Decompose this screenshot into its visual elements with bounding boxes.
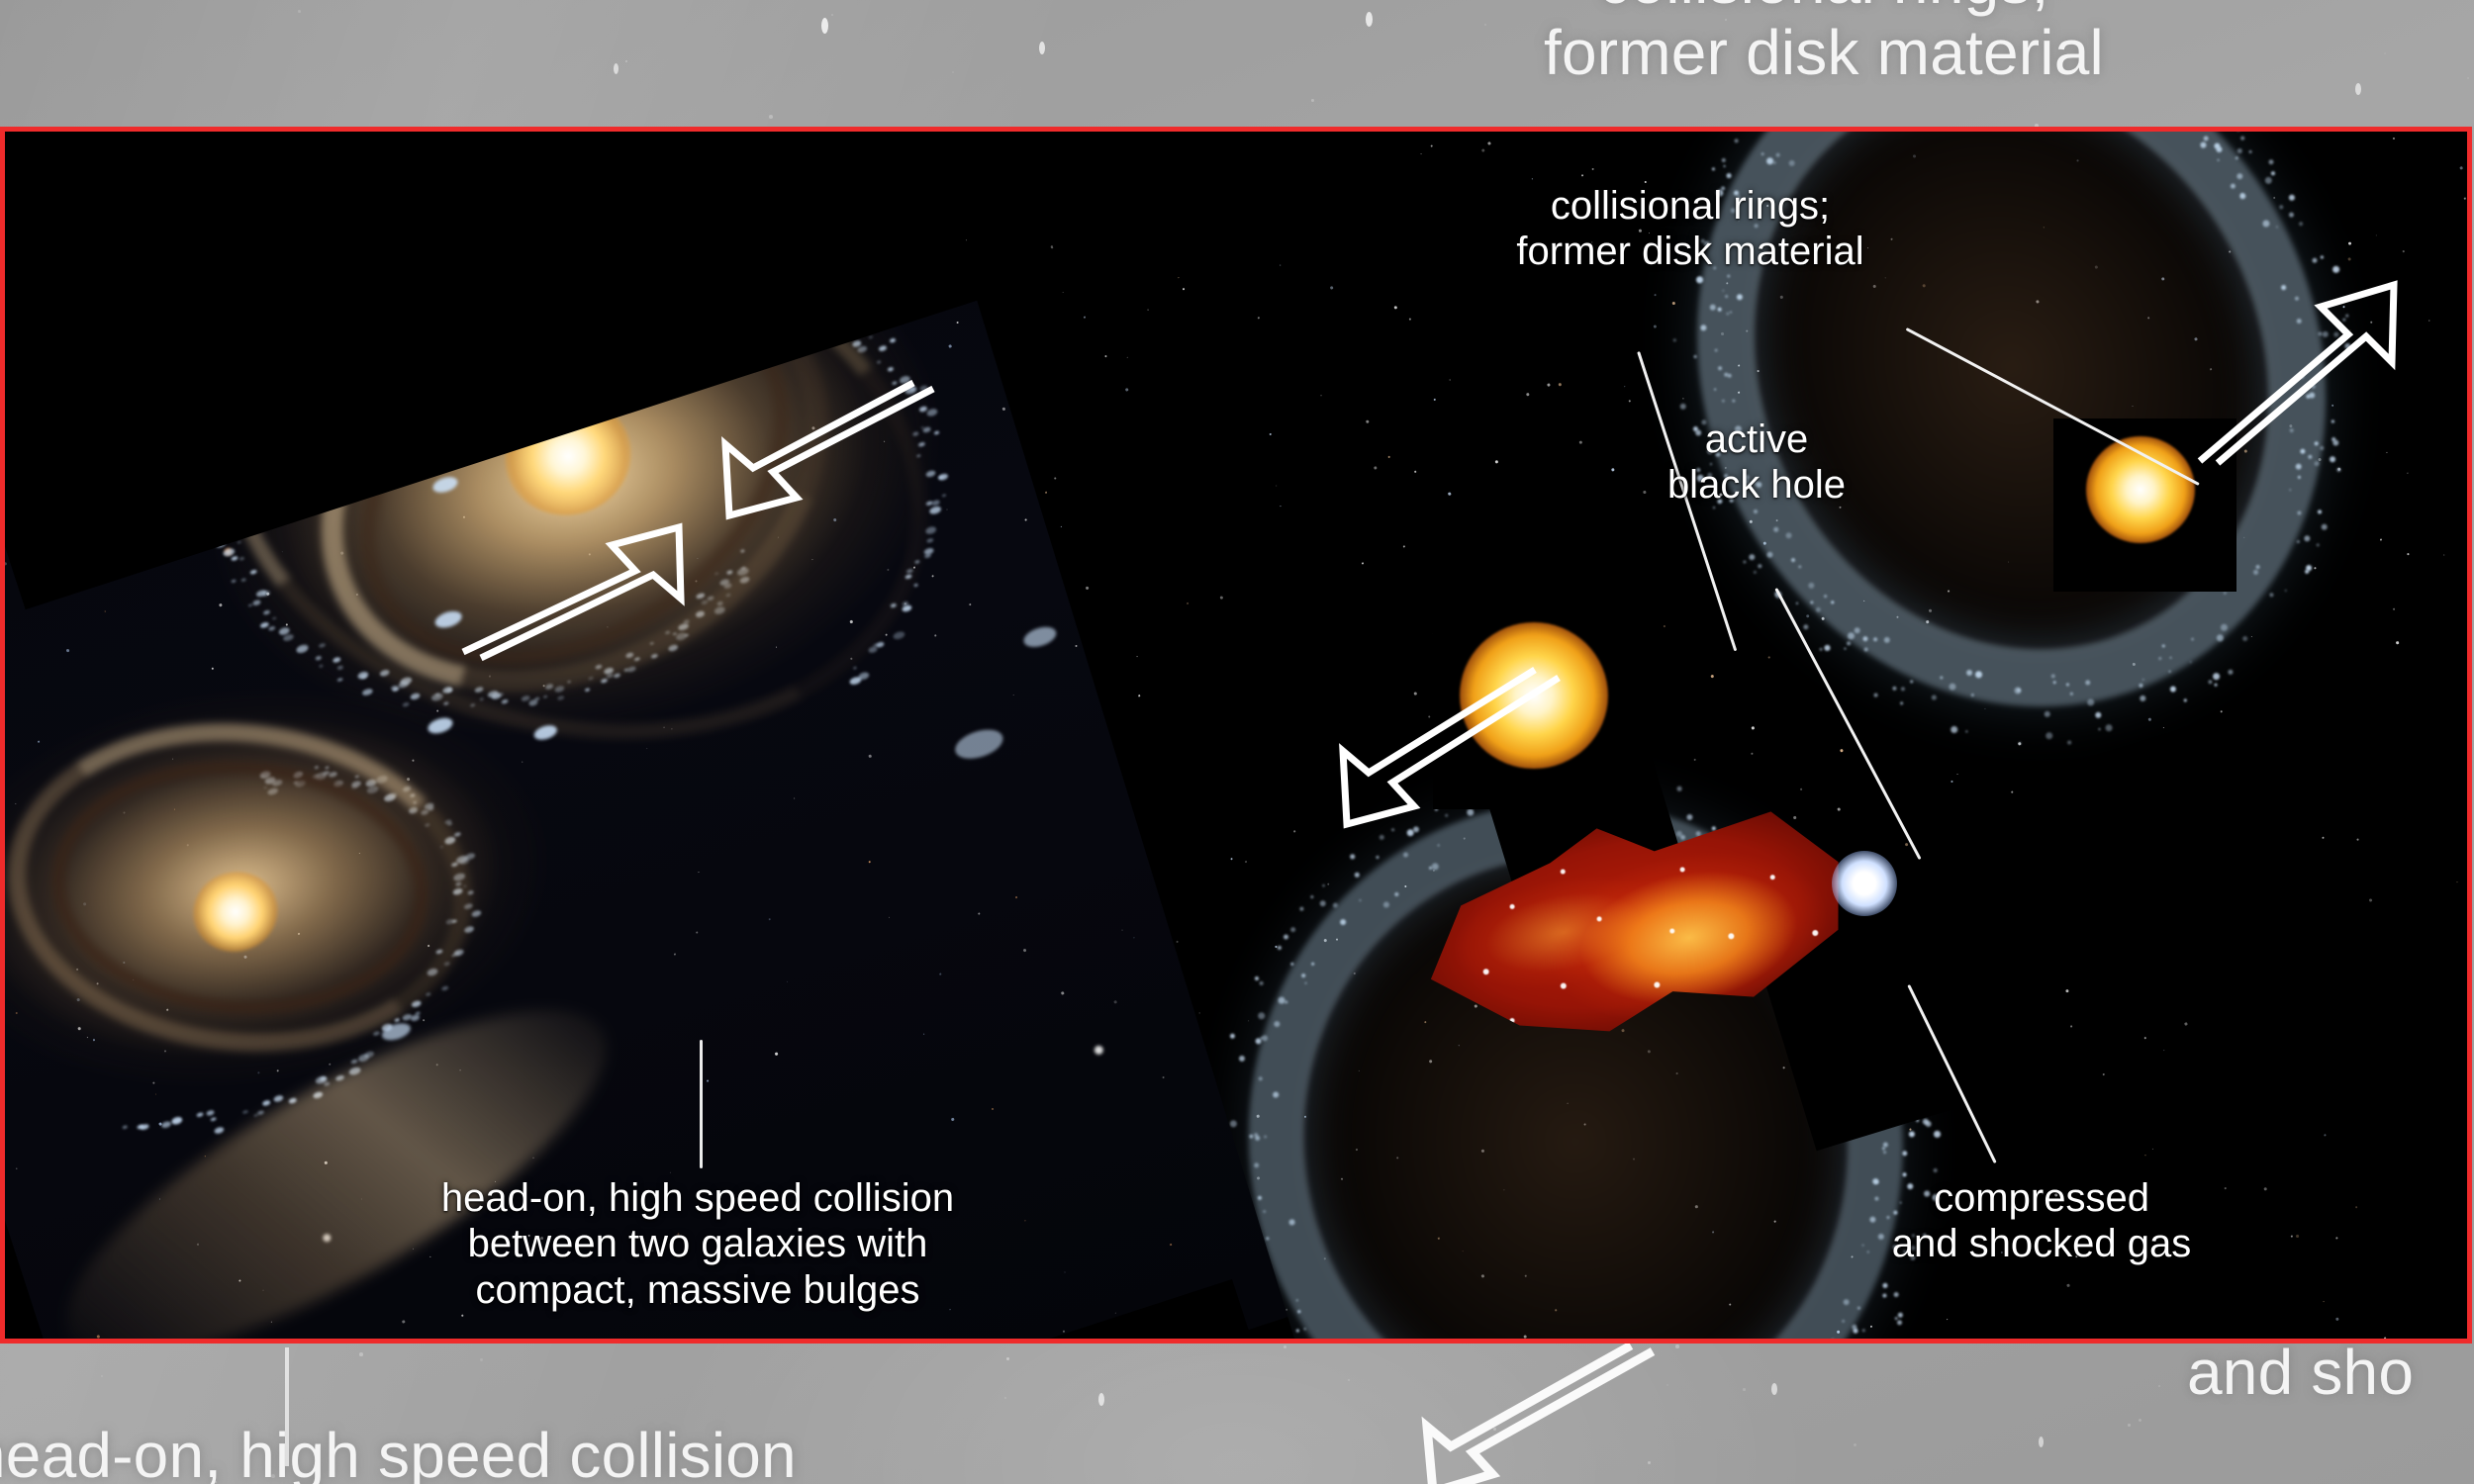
label-active-black-hole-line2: black hole	[1667, 463, 1846, 507]
caption-line1: head-on, high speed collision	[441, 1176, 954, 1220]
leader-tick-collision-caption	[700, 1040, 703, 1168]
caption-head-on-collision: head-on, high speed collision between tw…	[332, 1175, 1064, 1313]
black-hole-core-glow	[1832, 851, 1897, 916]
label-collisional-rings-line2: former disk material	[1516, 230, 1863, 273]
label-compressed-shocked-gas: compressed and shocked gas	[1824, 1175, 2259, 1267]
label-active-black-hole: active black hole	[1613, 417, 1900, 509]
arrow-lower-left-icon	[1282, 666, 1578, 864]
figure-frame: collisional rings; former disk material …	[0, 127, 2472, 1344]
arrow-pointing-right-icon	[455, 488, 742, 676]
caption-line3: compact, massive bulges	[475, 1268, 919, 1312]
background-shocked-gas-label: and sho	[2187, 1338, 2414, 1409]
figure-root: collisional rings; former disk material …	[0, 0, 2474, 1484]
arrow-lower-left-icon-background	[1366, 1344, 1692, 1484]
background-leader-tick	[285, 1347, 289, 1466]
composite-photo: collisional rings; former disk material …	[5, 132, 2467, 1339]
background-collisional-rings-label: collisional rings; former disk material	[1544, 0, 2104, 88]
background-collision-caption: head-on, high speed collision	[0, 1421, 797, 1484]
label-compressed-shocked-gas-line2: and shocked gas	[1892, 1222, 2191, 1265]
background-collisional-rings-line2: former disk material	[1544, 17, 2104, 88]
background-shocked-gas-text: and sho	[2187, 1337, 2414, 1408]
label-active-black-hole-line1: active	[1705, 417, 1809, 461]
arrow-upper-right-icon	[2172, 245, 2459, 453]
background-collision-caption-text: head-on, high speed collision	[0, 1420, 797, 1484]
background-collisional-rings-line1: collisional rings;	[1598, 0, 2048, 17]
caption-line2: between two galaxies with	[468, 1222, 928, 1265]
label-collisional-rings: collisional rings; former disk material	[1468, 183, 1913, 275]
label-compressed-shocked-gas-line1: compressed	[1934, 1176, 2149, 1220]
label-collisional-rings-line1: collisional rings;	[1551, 184, 1830, 228]
